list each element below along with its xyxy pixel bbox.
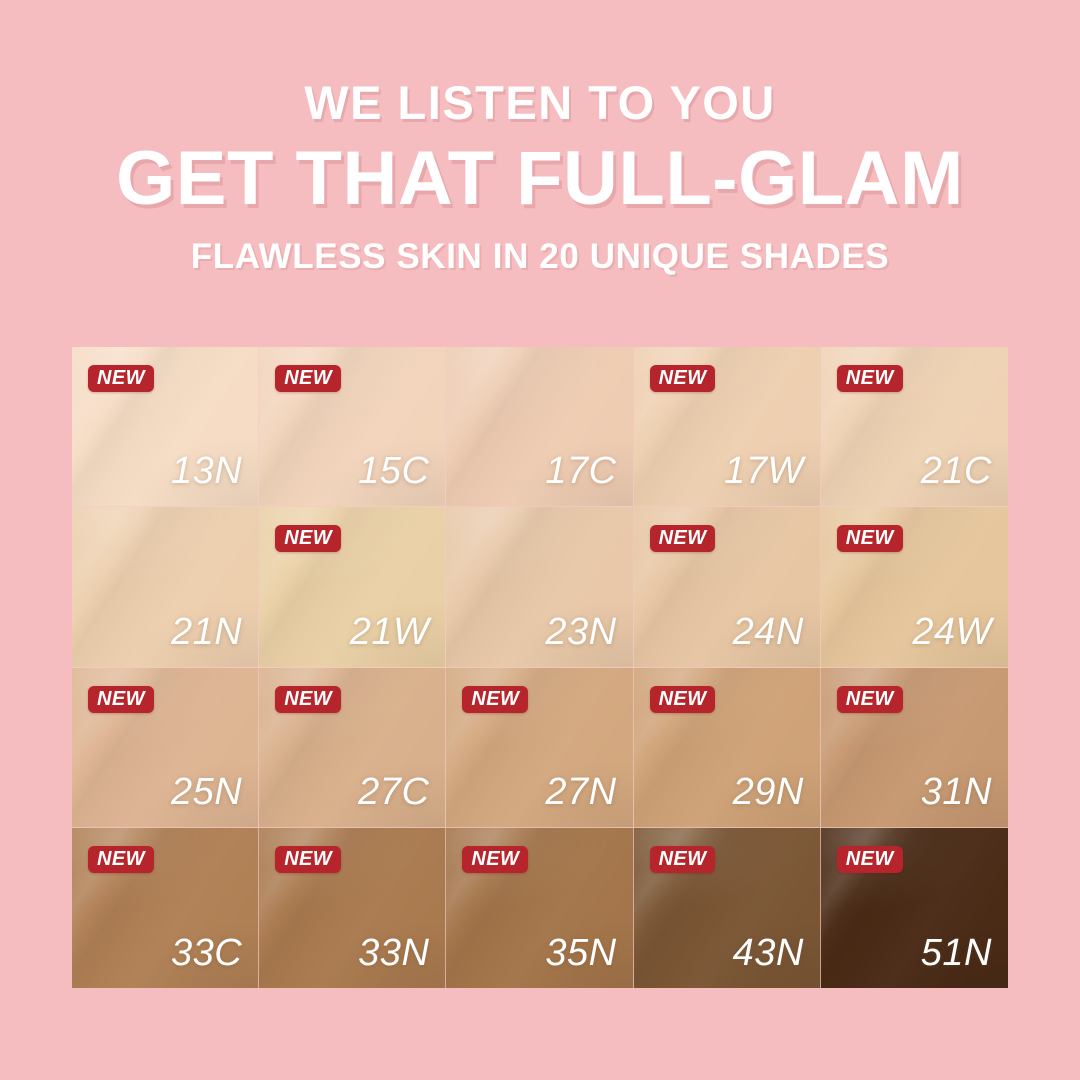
new-badge: NEW (837, 846, 903, 873)
headline-block: WE LISTEN TO YOU GET THAT FULL-GLAM FLAW… (0, 78, 1080, 276)
shade-code-label: 21C (921, 452, 992, 490)
new-badge: NEW (650, 846, 716, 873)
new-badge: NEW (88, 365, 154, 392)
shade-swatch[interactable]: NEW51N (821, 828, 1008, 988)
shade-grid: NEW13NNEW15C17CNEW17WNEW21C21NNEW21W23NN… (72, 347, 1008, 988)
shade-swatch[interactable]: NEW27C (259, 668, 446, 828)
new-badge: NEW (650, 525, 716, 552)
new-badge: NEW (837, 365, 903, 392)
shade-code-label: 23N (545, 613, 616, 651)
shade-swatch[interactable]: 21N (72, 507, 259, 667)
new-badge: NEW (88, 686, 154, 713)
headline-line-2: GET THAT FULL-GLAM (0, 136, 1080, 221)
shade-code-label: 21W (350, 613, 430, 651)
shade-code-label: 33N (358, 934, 429, 972)
shade-swatch[interactable]: 23N (446, 507, 633, 667)
shade-range-poster: WE LISTEN TO YOU GET THAT FULL-GLAM FLAW… (0, 0, 1080, 1080)
shade-code-label: 43N (733, 934, 804, 972)
shade-swatch[interactable]: NEW15C (259, 347, 446, 507)
shade-swatch[interactable]: 17C (446, 347, 633, 507)
shade-code-label: 35N (545, 934, 616, 972)
new-badge: NEW (275, 686, 341, 713)
new-badge: NEW (650, 686, 716, 713)
new-badge: NEW (837, 525, 903, 552)
shade-swatch[interactable]: NEW24W (821, 507, 1008, 667)
shade-swatch[interactable]: NEW24N (634, 507, 821, 667)
shade-swatch[interactable]: NEW33C (72, 828, 259, 988)
shade-code-label: 17W (724, 452, 804, 490)
new-badge: NEW (275, 365, 341, 392)
shade-code-label: 13N (171, 452, 242, 490)
shade-code-label: 25N (171, 773, 242, 811)
new-badge: NEW (275, 846, 341, 873)
new-badge: NEW (88, 846, 154, 873)
shade-code-label: 27N (545, 773, 616, 811)
shade-swatch[interactable]: NEW33N (259, 828, 446, 988)
new-badge: NEW (650, 365, 716, 392)
shade-swatch[interactable]: NEW31N (821, 668, 1008, 828)
shade-code-label: 27C (358, 773, 429, 811)
shade-code-label: 33C (171, 934, 242, 972)
shade-swatch[interactable]: NEW25N (72, 668, 259, 828)
headline-line-3: FLAWLESS SKIN IN 20 UNIQUE SHADES (0, 238, 1080, 277)
new-badge: NEW (462, 686, 528, 713)
shade-code-label: 51N (921, 934, 992, 972)
shade-code-label: 24N (733, 613, 804, 651)
new-badge: NEW (837, 686, 903, 713)
shade-swatch[interactable]: NEW29N (634, 668, 821, 828)
shade-swatch[interactable]: NEW21W (259, 507, 446, 667)
shade-code-label: 29N (733, 773, 804, 811)
shade-code-label: 24W (912, 613, 992, 651)
shade-swatch[interactable]: NEW13N (72, 347, 259, 507)
new-badge: NEW (275, 525, 341, 552)
shade-swatch[interactable]: NEW17W (634, 347, 821, 507)
shade-swatch[interactable]: NEW43N (634, 828, 821, 988)
shade-code-label: 17C (545, 452, 616, 490)
new-badge: NEW (462, 846, 528, 873)
shade-swatch[interactable]: NEW35N (446, 828, 633, 988)
shade-code-label: 31N (921, 773, 992, 811)
shade-swatch[interactable]: NEW27N (446, 668, 633, 828)
shade-code-label: 15C (358, 452, 429, 490)
headline-line-1: WE LISTEN TO YOU (0, 78, 1080, 129)
shade-swatch[interactable]: NEW21C (821, 347, 1008, 507)
shade-code-label: 21N (171, 613, 242, 651)
